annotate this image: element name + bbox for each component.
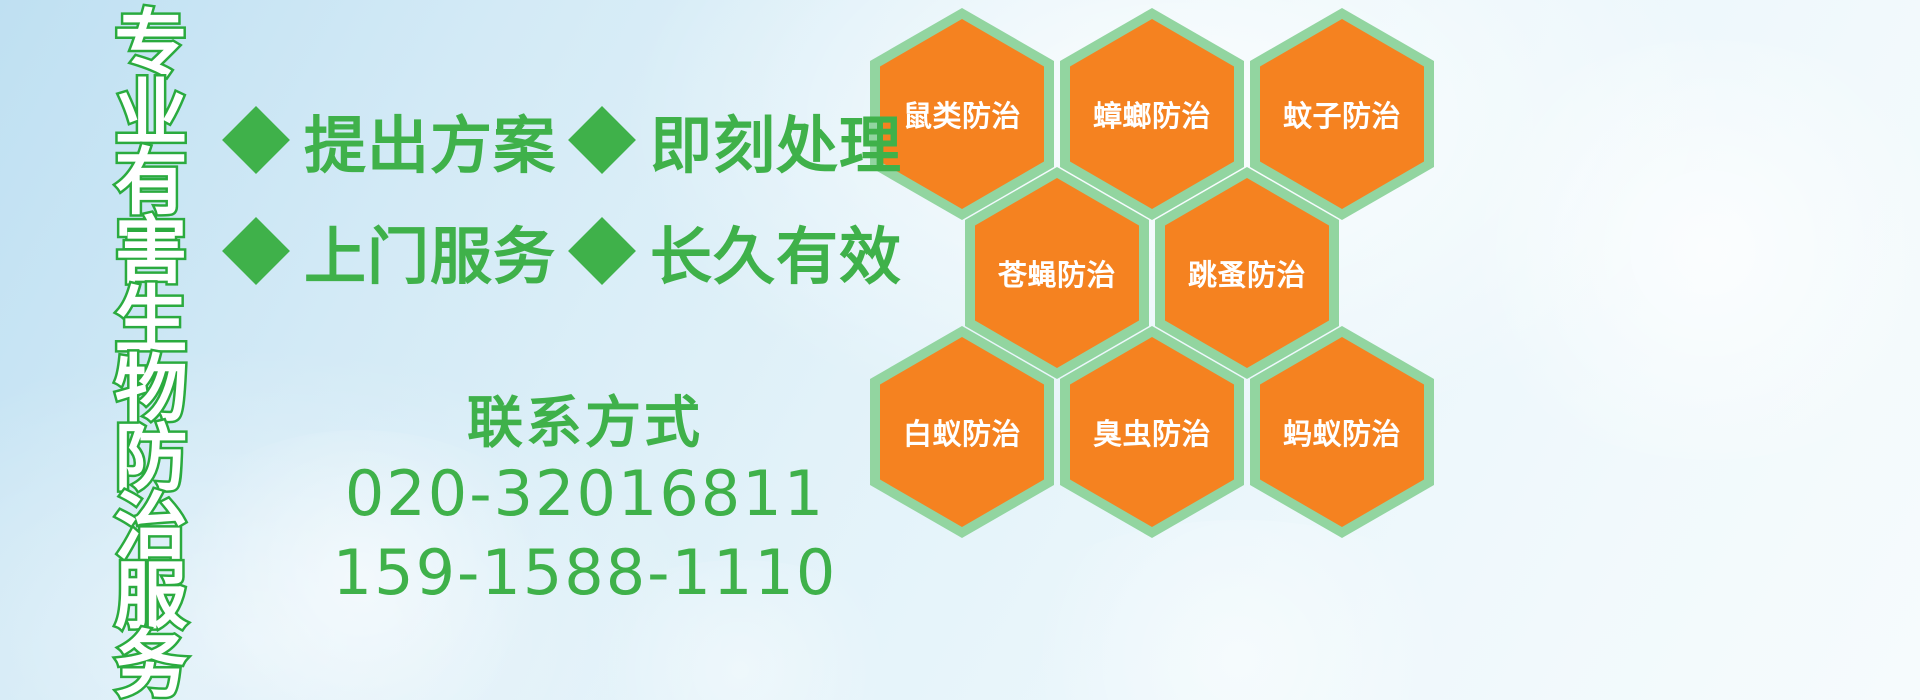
vertical-title-char: 生 [115, 286, 188, 355]
service-hex-label: 跳蚤防治 [1188, 252, 1306, 294]
vertical-title-char: 业 [115, 79, 188, 148]
vertical-title: 专 业 有 害 生 物 防 治 服 务 [103, 10, 199, 700]
phone-number-landline[interactable]: 020-32016811 [300, 454, 870, 533]
vertical-title-char: 务 [115, 631, 188, 700]
phone-number-mobile[interactable]: 159-1588-1110 [300, 533, 870, 612]
hex-inner: 蚊子防治 [1260, 19, 1424, 209]
feature-label: 长久有效 [650, 206, 902, 296]
service-hex-label: 苍蝇防治 [998, 252, 1116, 294]
hex-inner: 跳蚤防治 [1165, 178, 1329, 368]
vertical-title-char: 专 [115, 10, 188, 79]
vertical-title-char: 害 [115, 217, 188, 286]
hex-inner: 蟑螂防治 [1070, 19, 1234, 209]
service-hex-grid: 鼠类防治 蟑螂防治 蚊子防治 苍蝇防治 跳蚤防治 白蚁防治 [862, 0, 1482, 700]
service-hex-label: 白蚁防治 [903, 411, 1021, 453]
service-hex-label: 蟑螂防治 [1093, 93, 1211, 135]
feature-row: 上门服务 长久有效 [232, 195, 872, 306]
diamond-icon [222, 217, 290, 285]
service-hex-label: 蚂蚁防治 [1283, 411, 1401, 453]
contact-block: 联系方式 020-32016811 159-1588-1110 [300, 395, 870, 613]
vertical-title-char: 服 [115, 562, 188, 631]
hex-inner: 臭虫防治 [1070, 337, 1234, 527]
feature-label: 提出方案 [304, 95, 556, 185]
feature-label: 上门服务 [304, 206, 556, 296]
hex-inner: 蚂蚁防治 [1260, 337, 1424, 527]
background-blob [1450, 40, 1920, 460]
feature-list: 提出方案 即刻处理 上门服务 长久有效 [232, 84, 872, 306]
vertical-title-char: 物 [115, 355, 188, 424]
contact-heading: 联系方式 [300, 395, 870, 454]
vertical-title-char: 防 [115, 424, 188, 493]
hex-inner: 苍蝇防治 [975, 178, 1139, 368]
diamond-icon [568, 106, 636, 174]
vertical-title-char: 有 [115, 148, 188, 217]
hex-inner: 白蚁防治 [880, 337, 1044, 527]
feature-row: 提出方案 即刻处理 [232, 84, 872, 195]
diamond-icon [222, 106, 290, 174]
service-hex-label: 鼠类防治 [903, 93, 1021, 135]
service-hex-label: 蚊子防治 [1283, 93, 1401, 135]
service-hex-label: 臭虫防治 [1093, 411, 1211, 453]
hex-inner: 鼠类防治 [880, 19, 1044, 209]
promo-banner: 专 业 有 害 生 物 防 治 服 务 提出方案 即刻处理 上门服务 长久有效 … [0, 0, 1920, 700]
vertical-title-char: 治 [115, 493, 188, 562]
feature-label: 即刻处理 [650, 95, 902, 185]
diamond-icon [568, 217, 636, 285]
